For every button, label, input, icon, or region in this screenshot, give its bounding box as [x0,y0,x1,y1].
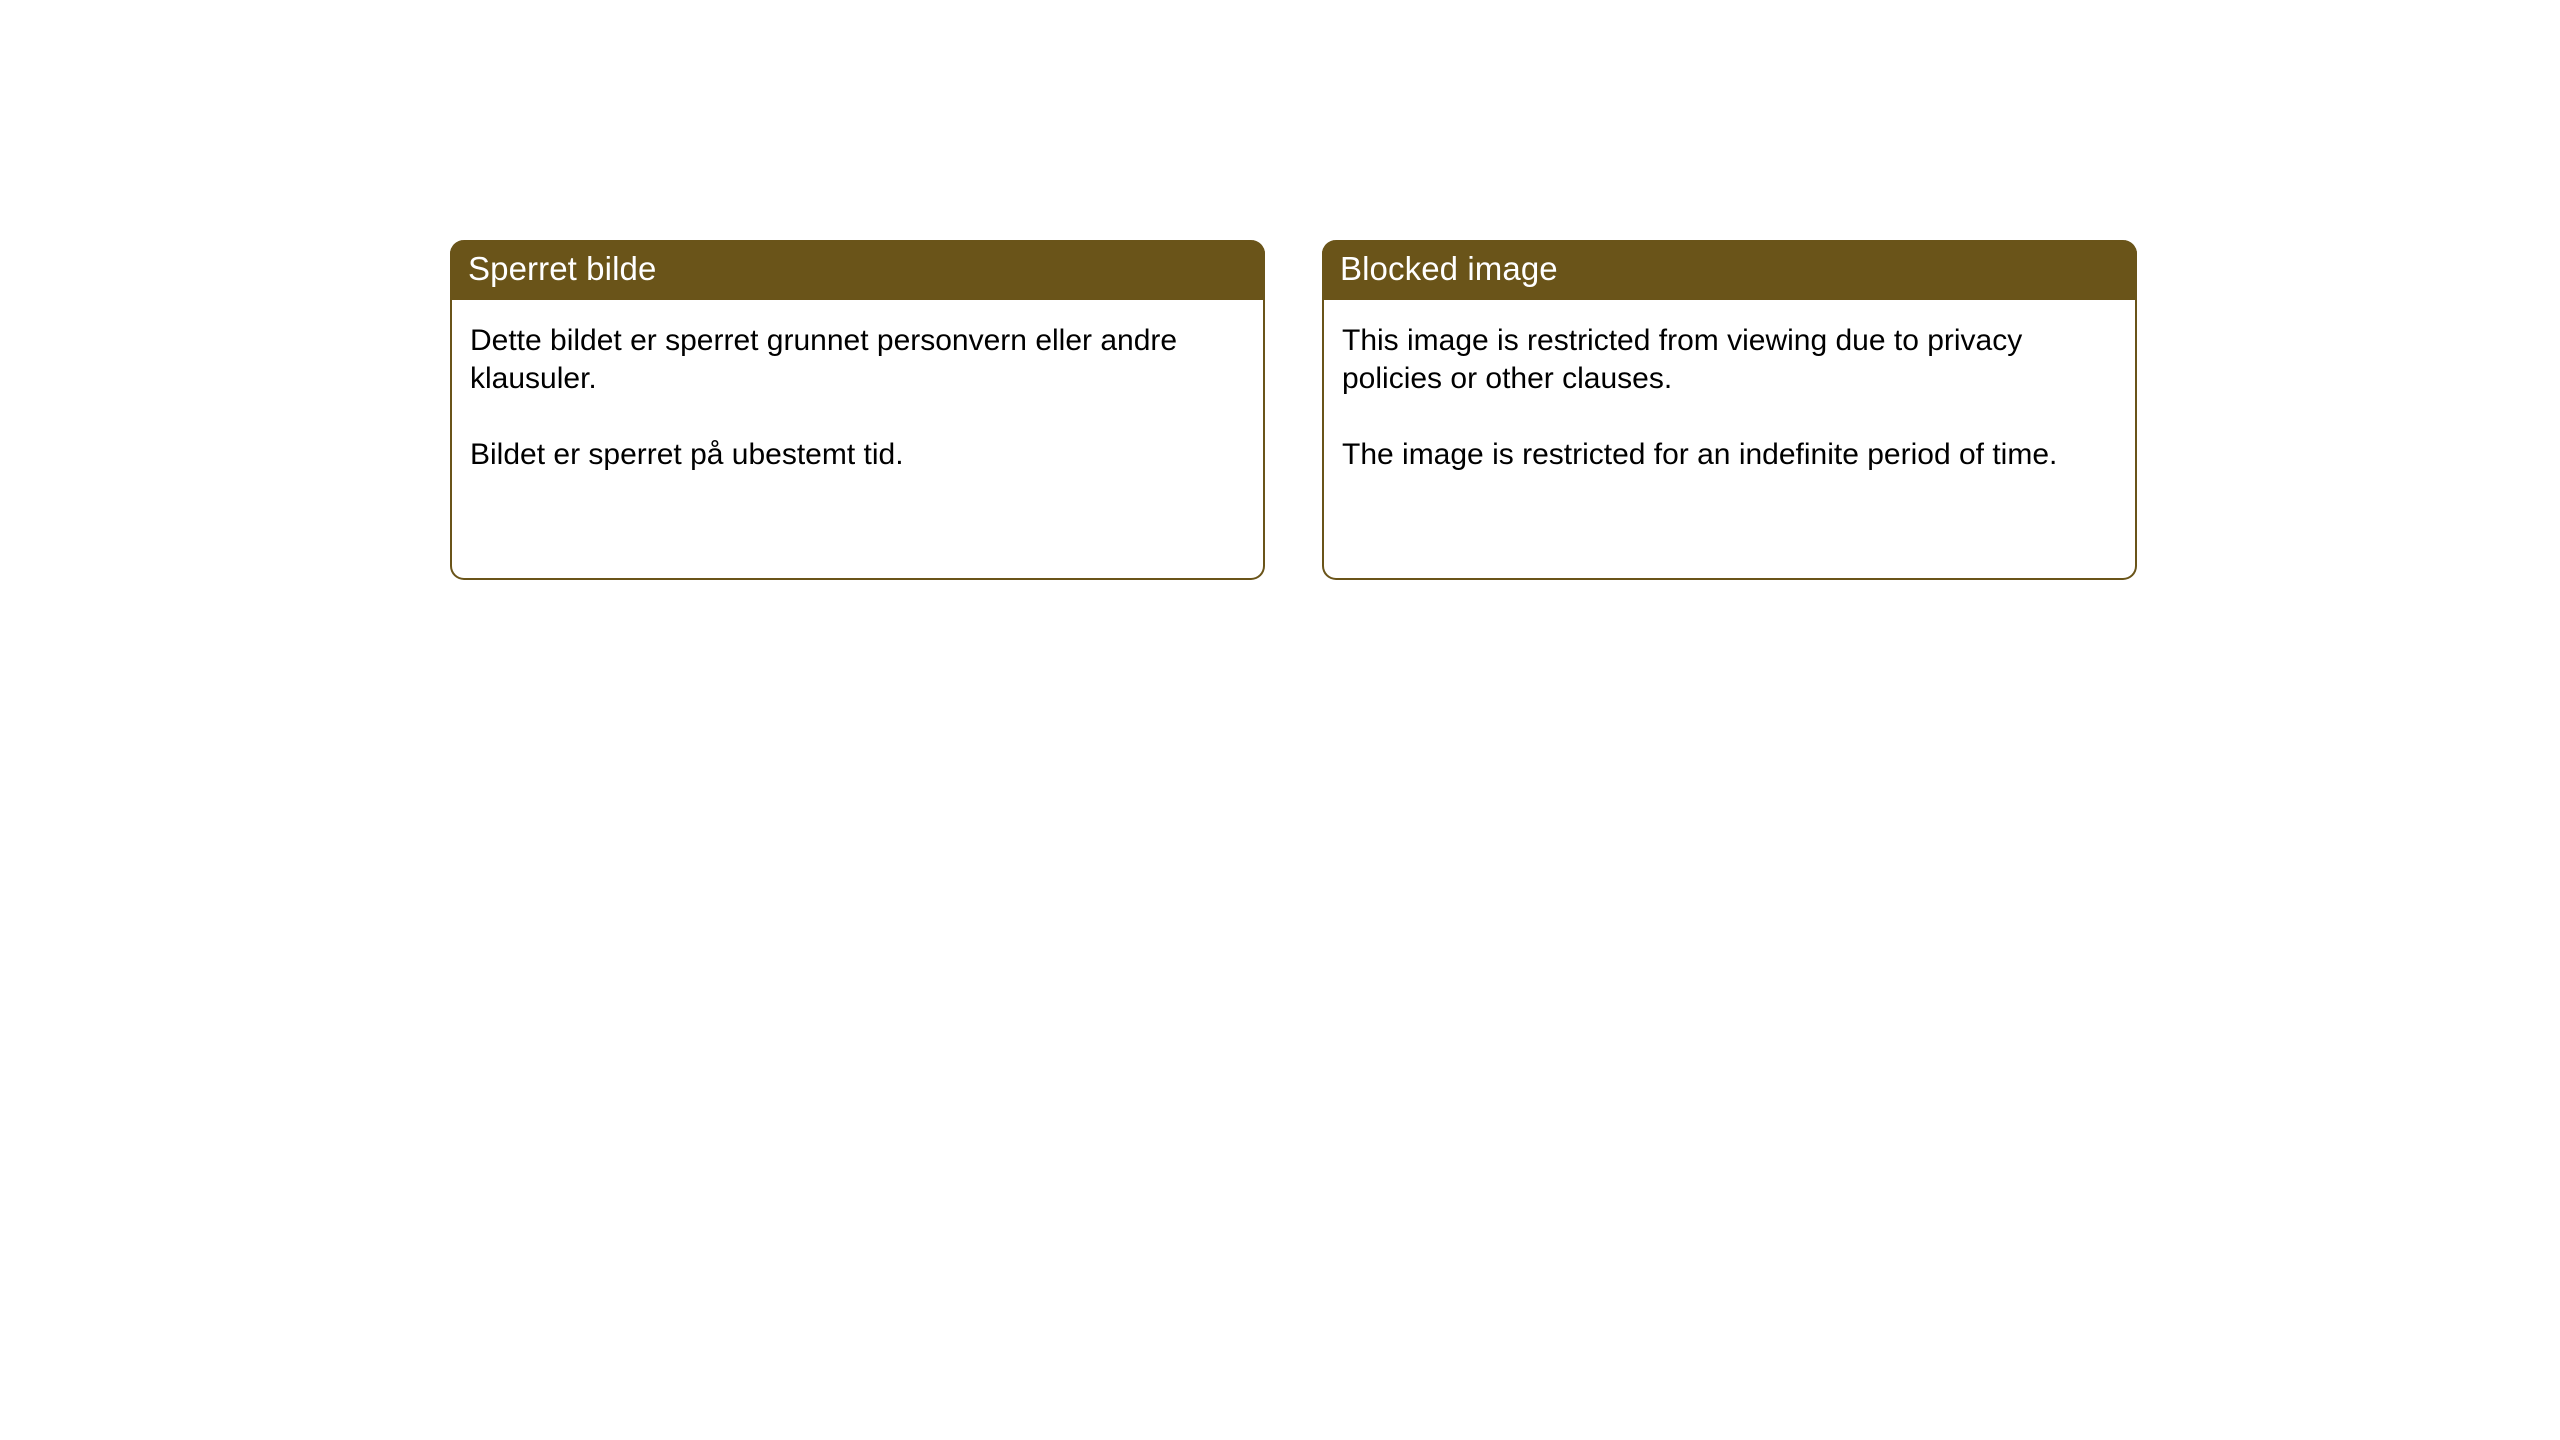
notice-title-en: Blocked image [1340,252,1558,288]
notice-paragraph-duration-no: Bildet er sperret på ubestemt tid. [470,436,1230,474]
notice-body-no: Dette bildet er sperret grunnet personve… [452,300,1263,578]
notice-title-no: Sperret bilde [468,252,656,288]
notice-header-no: Sperret bilde [450,240,1265,300]
notice-body-en: This image is restricted from viewing du… [1324,300,2135,578]
paragraph-spacer [470,398,1243,436]
paragraph-spacer [1342,398,2115,436]
notice-paragraph-duration-en: The image is restricted for an indefinit… [1342,436,2102,474]
notice-header-en: Blocked image [1322,240,2137,300]
blocked-image-notices: Sperret bilde Dette bildet er sperret gr… [450,240,2137,580]
notice-paragraph-reason-no: Dette bildet er sperret grunnet personve… [470,322,1230,398]
blocked-image-notice-no: Sperret bilde Dette bildet er sperret gr… [450,240,1265,580]
notice-paragraph-reason-en: This image is restricted from viewing du… [1342,322,2102,398]
blocked-image-notice-en: Blocked image This image is restricted f… [1322,240,2137,580]
